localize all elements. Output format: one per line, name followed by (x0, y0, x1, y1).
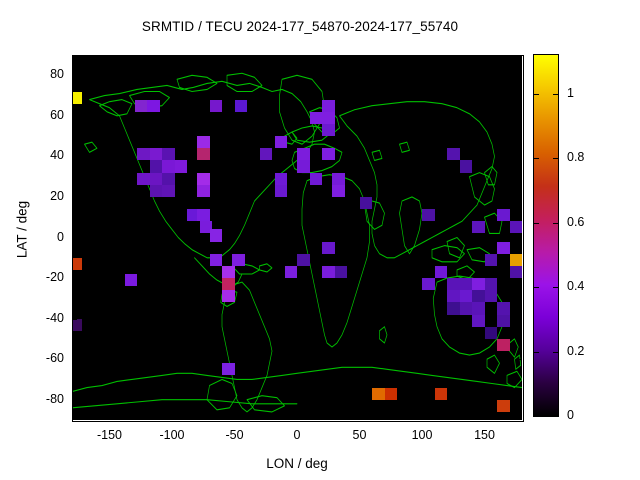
data-cell (472, 290, 485, 302)
map-plot-area[interactable] (72, 55, 522, 420)
y-tick-label: -80 (24, 392, 64, 406)
data-cell (447, 148, 460, 160)
data-cell (297, 160, 310, 172)
data-cell (197, 136, 210, 148)
data-cell (235, 100, 248, 112)
y-tick-mark (517, 75, 522, 76)
data-cell (72, 319, 82, 331)
y-tick-mark (72, 319, 77, 320)
data-cells-layer (72, 55, 522, 420)
data-cell (150, 148, 163, 160)
x-tick-mark (360, 55, 361, 60)
data-cell (175, 160, 188, 172)
x-axis-title: LON / deg (72, 456, 522, 471)
x-tick-mark (172, 415, 173, 420)
data-cell (162, 173, 175, 185)
data-cell (322, 148, 335, 160)
y-tick-mark (517, 197, 522, 198)
colorbar-tick-mark (534, 94, 539, 95)
y-tick-mark (72, 197, 77, 198)
x-tick-label: -50 (205, 428, 265, 442)
data-cell (510, 221, 523, 233)
data-cell (285, 266, 298, 278)
data-cell (310, 112, 323, 124)
data-cell (275, 136, 288, 148)
colorbar-tick-mark (553, 158, 558, 159)
colorbar-gradient (534, 55, 558, 416)
x-tick-mark (110, 415, 111, 420)
data-cell (197, 209, 210, 221)
data-cell (260, 148, 273, 160)
data-cell (435, 266, 448, 278)
x-tick-label: 50 (330, 428, 390, 442)
data-cell (297, 254, 310, 266)
data-cell (472, 221, 485, 233)
colorbar-tick-mark (553, 223, 558, 224)
data-cell (422, 209, 435, 221)
data-cell (210, 100, 223, 112)
x-tick-label: 150 (455, 428, 515, 442)
data-cell (497, 302, 510, 314)
data-cell (497, 315, 510, 327)
data-cell (162, 148, 175, 160)
colorbar-tick-label: 0.2 (567, 344, 607, 358)
data-cell (372, 388, 385, 400)
y-tick-label: -40 (24, 311, 64, 325)
y-tick-mark (517, 238, 522, 239)
y-axis-title: LAT / deg (15, 160, 30, 300)
data-cell (510, 254, 523, 266)
x-tick-mark (360, 415, 361, 420)
colorbar-tick-label: 1 (567, 86, 607, 100)
x-tick-mark (485, 415, 486, 420)
x-tick-mark (172, 55, 173, 60)
y-tick-mark (72, 116, 77, 117)
y-tick-label: 40 (24, 148, 64, 162)
data-cell (232, 254, 245, 266)
colorbar-tick-mark (534, 416, 539, 417)
colorbar-tick-mark (553, 352, 558, 353)
data-cell (322, 100, 335, 112)
x-tick-label: -150 (80, 428, 140, 442)
y-tick-label: 60 (24, 108, 64, 122)
y-tick-mark (72, 156, 77, 157)
colorbar-tick-mark (534, 287, 539, 288)
y-tick-mark (72, 400, 77, 401)
y-tick-mark (517, 278, 522, 279)
data-cell (497, 209, 510, 221)
data-cell (222, 290, 235, 302)
data-cell (332, 173, 345, 185)
data-cell (472, 278, 485, 290)
data-cell (447, 302, 460, 314)
data-cell (485, 278, 498, 290)
data-cell (497, 400, 510, 412)
colorbar-tick-mark (553, 416, 558, 417)
y-tick-mark (517, 116, 522, 117)
data-cell (197, 148, 210, 160)
colorbar-tick-mark (553, 94, 558, 95)
x-tick-mark (485, 55, 486, 60)
data-cell (335, 266, 348, 278)
data-cell (360, 197, 373, 209)
data-cell (297, 148, 310, 160)
data-cell (460, 160, 473, 172)
data-cell (72, 92, 82, 104)
colorbar-tick-mark (534, 352, 539, 353)
data-cell (510, 266, 523, 278)
x-tick-mark (297, 415, 298, 420)
y-tick-mark (517, 156, 522, 157)
data-cell (162, 185, 175, 197)
data-cell (322, 242, 335, 254)
colorbar-tick-mark (553, 287, 558, 288)
data-cell (472, 315, 485, 327)
data-cell (310, 173, 323, 185)
data-cell (222, 266, 235, 278)
y-tick-mark (72, 75, 77, 76)
data-cell (210, 254, 223, 266)
data-cell (460, 290, 473, 302)
x-tick-mark (422, 55, 423, 60)
x-tick-mark (297, 55, 298, 60)
data-cell (322, 112, 335, 124)
data-cell (150, 160, 163, 172)
plot-title: SRMTID / TECU 2024-177_54870-2024-177_55… (0, 19, 600, 34)
colorbar-tick-mark (534, 158, 539, 159)
data-cell (322, 124, 335, 136)
x-tick-label: 0 (267, 428, 327, 442)
colorbar-tick-label: 0.6 (567, 215, 607, 229)
x-tick-label: 100 (392, 428, 452, 442)
data-cell (447, 290, 460, 302)
data-cell (197, 173, 210, 185)
y-tick-mark (517, 319, 522, 320)
data-cell (147, 100, 160, 112)
data-cell (485, 254, 498, 266)
y-tick-label: -20 (24, 270, 64, 284)
colorbar-tick-mark (534, 223, 539, 224)
y-tick-label: 0 (24, 230, 64, 244)
data-cell (460, 302, 473, 314)
x-tick-label: -100 (142, 428, 202, 442)
x-tick-mark (110, 55, 111, 60)
data-cell (150, 173, 163, 185)
data-cell (322, 266, 335, 278)
y-tick-mark (517, 400, 522, 401)
data-cell (497, 242, 510, 254)
y-tick-label: -60 (24, 351, 64, 365)
colorbar-tick-label: 0.8 (567, 150, 607, 164)
y-tick-label: 20 (24, 189, 64, 203)
colorbar-tick-label: 0.4 (567, 279, 607, 293)
data-cell (385, 388, 398, 400)
y-tick-mark (72, 238, 77, 239)
data-cell (162, 160, 175, 172)
data-cell (137, 148, 150, 160)
data-cell (125, 274, 138, 286)
data-cell (222, 278, 235, 290)
x-tick-mark (235, 55, 236, 60)
data-cell (422, 278, 435, 290)
data-cell (137, 173, 150, 185)
data-cell (210, 229, 223, 241)
x-tick-mark (422, 415, 423, 420)
y-tick-mark (72, 359, 77, 360)
figure-canvas: SRMTID / TECU 2024-177_54870-2024-177_55… (0, 0, 640, 480)
data-cell (460, 278, 473, 290)
data-cell (435, 388, 448, 400)
colorbar-tick-label: 0 (567, 408, 607, 422)
data-cell (72, 258, 82, 270)
data-cell (222, 363, 235, 375)
y-tick-mark (517, 359, 522, 360)
y-tick-label: 80 (24, 67, 64, 81)
x-tick-mark (235, 415, 236, 420)
data-cell (135, 100, 148, 112)
data-cell (447, 278, 460, 290)
data-cell (485, 290, 498, 302)
data-cell (485, 327, 498, 339)
data-cell (332, 185, 345, 197)
data-cell (472, 302, 485, 314)
data-cell (197, 185, 210, 197)
y-tick-mark (72, 278, 77, 279)
data-cell (275, 173, 288, 185)
data-cell (150, 185, 163, 197)
data-cell (497, 339, 510, 351)
data-cell (275, 185, 288, 197)
colorbar[interactable] (534, 55, 558, 416)
